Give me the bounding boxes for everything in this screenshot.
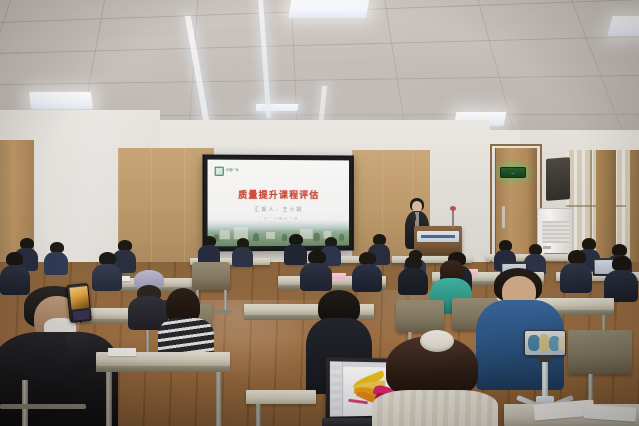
hair-scrunchie — [420, 330, 454, 352]
ceiling-light-strip — [256, 104, 299, 111]
conference-chair[interactable] — [192, 262, 230, 290]
audience-person — [44, 242, 68, 272]
hoodie-torso — [0, 332, 118, 426]
handout-paper — [108, 348, 136, 356]
woman-with-hair-scrunchie-at-laptop — [372, 336, 498, 426]
audience-person — [560, 250, 592, 290]
audience-person — [198, 236, 220, 262]
app-tool-palette[interactable] — [330, 361, 343, 416]
desk-leg — [106, 372, 112, 426]
conference-chair[interactable] — [568, 330, 632, 374]
gooseneck-microphone-stem — [452, 210, 454, 228]
audience-person — [398, 256, 428, 292]
ceiling-light-panel — [288, 0, 369, 18]
slide-title: 质量提升课程评估 — [208, 188, 349, 201]
ceiling-light-panel — [608, 16, 639, 36]
ceiling-light-panel — [29, 92, 93, 109]
desk-edge — [96, 366, 230, 372]
conference-room-scene: → 中国广永 质量提升课程评估 汇报人：王小娟 二〇二一年十二月 — [0, 0, 639, 426]
conference-chair[interactable] — [396, 300, 444, 332]
chair-leg — [224, 290, 227, 312]
slide-logo-mark-icon — [215, 166, 224, 175]
exit-arrow-icon: → — [510, 170, 517, 176]
handheld-microphone-icon — [413, 214, 416, 221]
audience-person — [604, 256, 638, 300]
audience-person — [352, 252, 382, 290]
chair-leg — [22, 380, 28, 426]
desk — [96, 352, 230, 366]
audience-person — [300, 250, 332, 288]
desk — [246, 390, 316, 404]
handheld-phone[interactable] — [66, 283, 92, 323]
knit-sweater — [372, 390, 498, 426]
desk-leg — [256, 404, 261, 426]
audience-person — [92, 252, 122, 288]
slide-logo: 中国广永 — [215, 165, 241, 177]
phone-screen-preview — [69, 286, 89, 310]
projected-slide: 中国广永 质量提升课程评估 汇报人：王小娟 二〇二一年十二月 — [208, 160, 349, 247]
phone-screen-lower — [73, 310, 90, 321]
chair-base — [0, 404, 86, 409]
podium-plaque — [417, 231, 459, 242]
air-conditioner-grille-icon — [542, 221, 570, 243]
phone-on-tripod[interactable] — [524, 330, 566, 356]
wall-speaker — [546, 157, 570, 201]
audience-person — [232, 238, 253, 264]
gooseneck-microphone-head-icon — [450, 206, 456, 211]
podium-plaque-text — [421, 235, 455, 238]
name-card — [330, 273, 346, 279]
slide-logo-text: 中国广永 — [226, 169, 239, 172]
desk-leg — [216, 372, 222, 426]
chair-leg — [588, 374, 593, 400]
exit-sign: → — [500, 167, 526, 178]
tripod-pole[interactable] — [542, 362, 548, 398]
slide-subtitle: 汇报人：王小娟 — [208, 206, 349, 213]
